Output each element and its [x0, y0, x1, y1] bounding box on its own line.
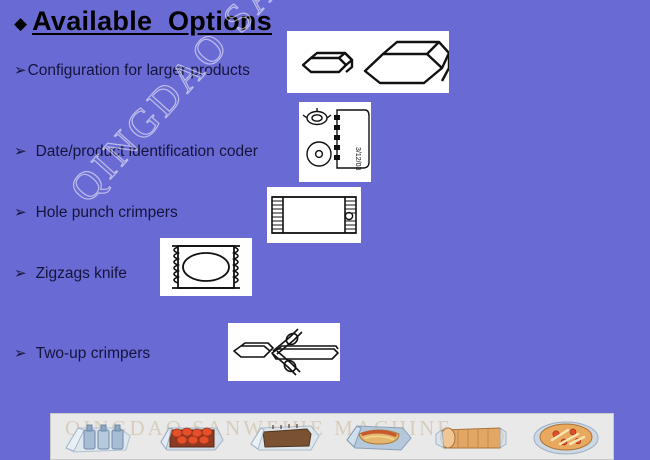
figure-hole-punch-package — [267, 187, 361, 243]
hole-punch-package-icon — [267, 187, 361, 243]
bullet-item-zigzag: ➢ Zigzags knife — [14, 264, 127, 283]
bullet-item-hole-punch: ➢ Hole punch crimpers — [14, 203, 178, 222]
product-item-tomato-tray-pack — [151, 417, 231, 457]
page-title: ◆ Available Options — [14, 6, 272, 37]
bullet-item-coder: ➢ Date/product identification coder — [14, 142, 258, 161]
diamond-bullet-icon: ◆ — [14, 15, 27, 32]
bottles-tray-pack-icon — [60, 418, 136, 456]
figure-large-product-boxes — [287, 31, 449, 93]
arrow-bullet-icon: ➢ — [14, 344, 27, 363]
zigzag-knife-package-icon — [160, 238, 252, 296]
tomato-tray-pack-icon — [153, 418, 229, 456]
arrow-bullet-icon: ➢ — [14, 203, 27, 222]
product-strip: QINGDAO SANWEIHE MACHINE — [50, 413, 614, 460]
hotdog-tray-pack-icon — [341, 418, 417, 456]
bread-loaf-pack-icon — [247, 418, 323, 456]
product-item-pizza-tray-pack — [526, 417, 606, 457]
product-item-hotdog-tray-pack — [339, 417, 419, 457]
product-item-bread-loaf-pack — [245, 417, 325, 457]
coder-printed-date: 3/12/03 — [354, 147, 361, 170]
arrow-bullet-icon: ➢ — [14, 142, 27, 161]
pizza-tray-pack-icon — [528, 418, 604, 456]
bullet-label: Two-up crimpers — [36, 344, 151, 363]
large-product-boxes-icon — [287, 31, 449, 93]
product-item-swiss-roll-pack — [432, 417, 512, 457]
bullet-label: Date/product identification coder — [36, 142, 258, 161]
arrow-bullet-icon: ➢ — [14, 61, 27, 80]
page-title-text: Available Options — [32, 6, 272, 37]
bullet-label: Configuration for larger products — [28, 61, 250, 80]
figure-date-coder: 3/12/03 — [299, 102, 371, 182]
date-coder-icon: 3/12/03 — [299, 102, 371, 182]
two-up-crimper-icon — [228, 323, 340, 381]
bullet-label: Zigzags knife — [36, 264, 127, 283]
figure-two-up-crimper — [228, 323, 340, 381]
figure-zigzag-knife-package — [160, 238, 252, 296]
bullet-label: Hole punch crimpers — [36, 203, 178, 222]
arrow-bullet-icon: ➢ — [14, 264, 27, 283]
bullet-item-two-up: ➢ Two-up crimpers — [14, 344, 150, 363]
bullet-item-configuration: ➢ Configuration for larger products — [14, 61, 250, 80]
slide-canvas: QINGDAO SANWEIHE ◆ Available Options ➢ C… — [0, 0, 650, 460]
swiss-roll-pack-icon — [434, 418, 510, 456]
product-item-bottles-tray-pack — [58, 417, 138, 457]
